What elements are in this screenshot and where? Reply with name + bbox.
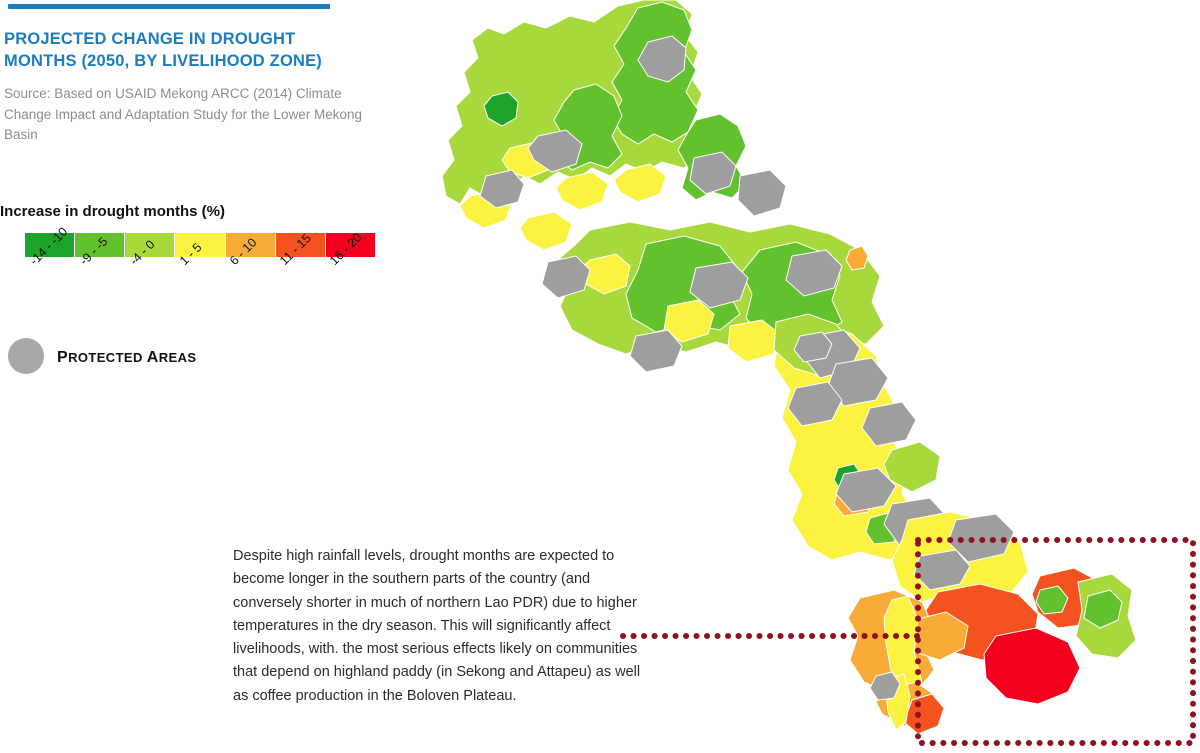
pa-label-reas: REAS (159, 350, 197, 365)
callout-leader-line (620, 632, 920, 640)
source-note: Source: Based on USAID Mekong ARCC (2014… (4, 84, 364, 146)
legend-tick-labels: -14 - -10-9 - -5-4 - 01 - 56 - 1011 - 15… (25, 258, 385, 328)
pa-label-p: P (57, 349, 68, 366)
page-title: Projected change in drought months (2050… (4, 28, 364, 72)
legend-title: Increase in drought months (%) (0, 203, 400, 220)
callout-highlight-box (915, 537, 1196, 746)
protected-areas-label: PROTECTED AREAS (57, 349, 196, 367)
map-description-text: Despite high rainfall levels, drought mo… (233, 545, 653, 708)
protected-areas-swatch-icon (8, 338, 44, 374)
pa-label-a: A (147, 349, 159, 366)
pa-label-rotected: ROTECTED (68, 350, 147, 365)
header-rule (8, 4, 330, 9)
protected-area-ph-7 (794, 332, 832, 362)
